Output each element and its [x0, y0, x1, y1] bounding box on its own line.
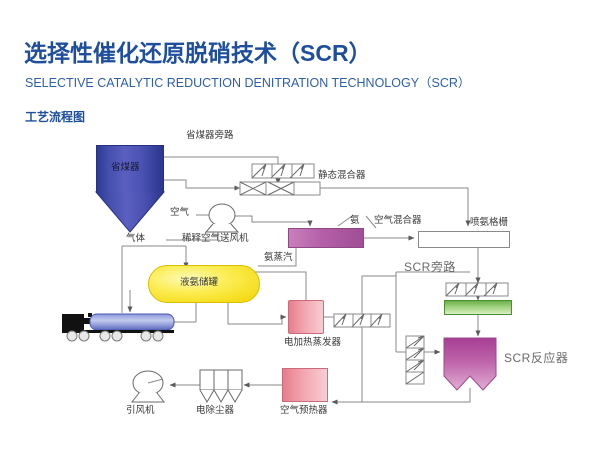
label-static-mixer: 静态混合器	[318, 171, 366, 181]
label-scr-reactor: SCR反应器	[504, 352, 568, 364]
economizer-bypass-damper-shape	[252, 164, 314, 178]
tanker-truck-shape	[62, 313, 174, 341]
dilution-air-fan-shape	[206, 204, 238, 232]
label-economizer-bypass: 省煤器旁路	[186, 131, 234, 141]
slide-canvas: 选择性催化还原脱硝技术（SCR） SELECTIVE CATALYTIC RED…	[0, 0, 600, 450]
label-gas: 气体	[126, 234, 145, 244]
static-mixer-shape	[240, 182, 320, 195]
label-induced-draft-fan: 引风机	[126, 406, 155, 416]
label-esp: 电除尘器	[196, 406, 234, 416]
economizer-label: 省煤器	[111, 163, 140, 173]
label-dilution-air-fan: 稀释空气送风机	[182, 234, 249, 244]
label-electric-heating-evaporator: 电加热蒸发器	[284, 338, 341, 348]
mid-damper-shape	[334, 314, 390, 327]
ammonia-air-mixer-body[interactable]	[288, 228, 364, 248]
scr-bypass-damper-shape	[446, 283, 508, 296]
ammonia-injection-grid-body[interactable]	[418, 231, 510, 248]
electric-heating-evaporator-body[interactable]	[288, 300, 324, 334]
induced-draft-fan-shape	[132, 371, 164, 402]
label-air-preheater: 空气预热器	[280, 406, 328, 416]
label-ammonia-injection-grid: 喷氨格栅	[470, 218, 508, 228]
air-preheater-body[interactable]	[282, 368, 328, 402]
economizer-cone-shape	[96, 192, 164, 232]
label-ammonia-vapor: 氨蒸汽	[264, 253, 293, 263]
esp-shape	[200, 370, 242, 402]
scr-reactor-shape	[444, 338, 496, 390]
process-flow-diagram: 省煤器 液氨储罐 省煤器旁路 静态混合器 空气 稀释空气送风机 氨 空气混合器 …	[0, 0, 600, 450]
label-ammonia-air-mixer: 空气混合器	[374, 216, 422, 226]
label-air: 空气	[170, 208, 189, 218]
reactor-inlet-damper-shape	[406, 336, 424, 384]
liquid-ammonia-tank-label: 液氨储罐	[180, 278, 218, 288]
label-ammonia: 氨	[350, 216, 360, 226]
label-scr-bypass: SCR旁路	[404, 261, 456, 273]
catalyst-layer-body[interactable]	[444, 300, 512, 315]
